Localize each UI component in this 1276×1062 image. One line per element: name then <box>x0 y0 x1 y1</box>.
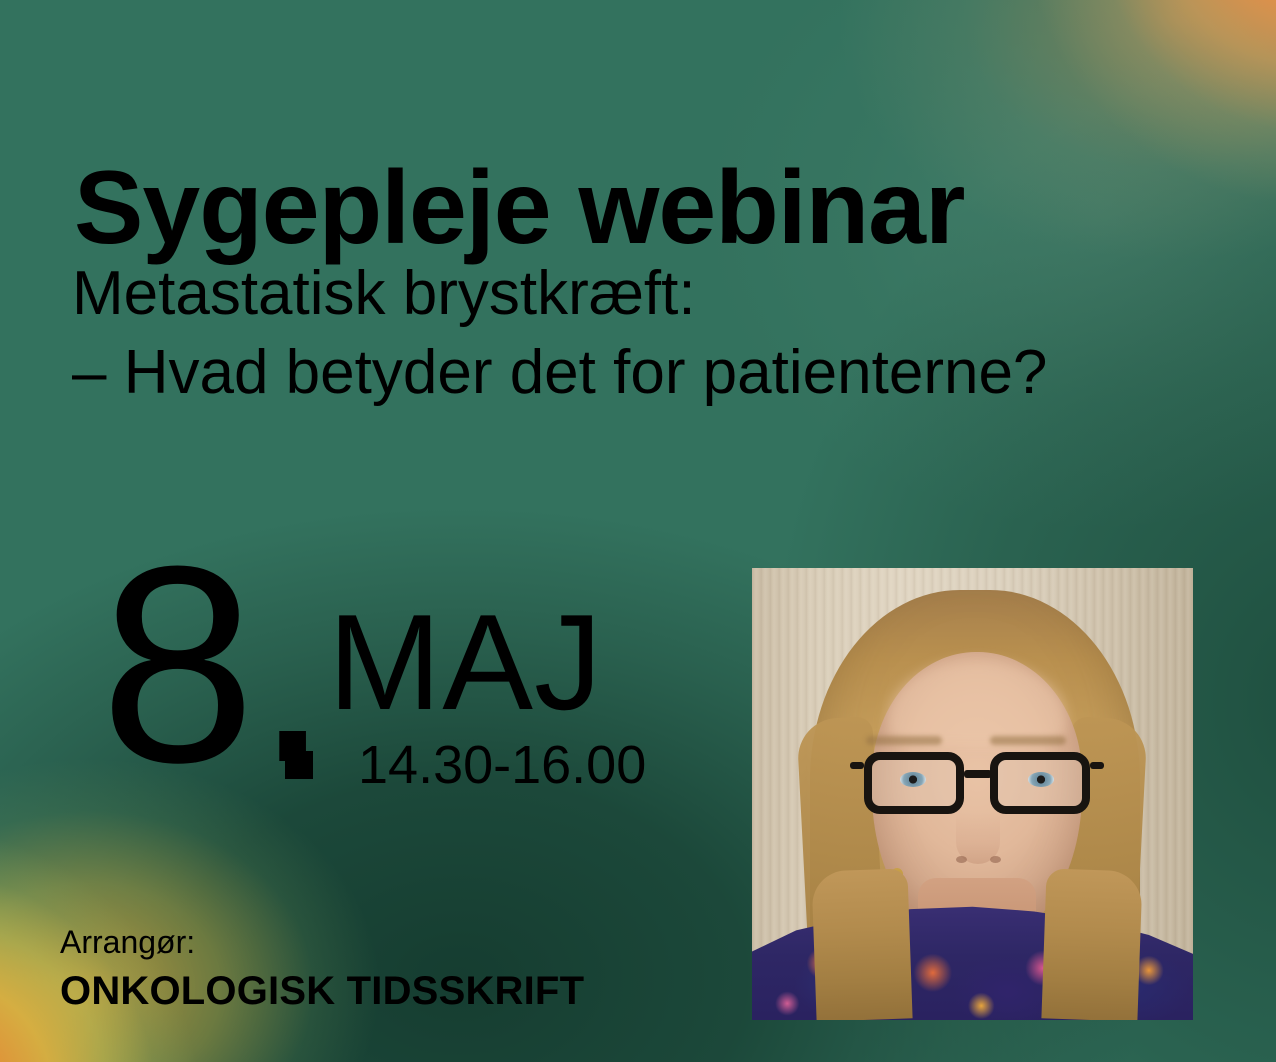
organiser-label: Arrangør: <box>60 924 584 961</box>
speaker-nostril-right <box>990 856 1001 863</box>
page-title: Sygepleje webinar <box>74 156 964 260</box>
glasses-bridge <box>964 770 992 778</box>
glasses-temple-left <box>850 762 864 769</box>
page-subtitle: Metastatisk brystkræft: – Hvad betyder d… <box>72 254 1047 413</box>
organiser-block: Arrangør: ONKOLOGISK TIDSSKRIFT <box>60 924 584 1013</box>
poster-content: Sygepleje webinar Metastatisk brystkræft… <box>0 0 1276 1062</box>
speaker-photo <box>752 568 1193 1020</box>
speaker-nostril-left <box>956 856 967 863</box>
subtitle-line-2: – Hvad betyder det for patienterne? <box>72 333 1047 412</box>
speaker-eye-left <box>900 772 926 787</box>
square-bullet-icon <box>285 751 313 779</box>
event-month: MAJ <box>328 594 603 730</box>
speaker-eye-right <box>1028 772 1054 787</box>
glasses-temple-right <box>1090 762 1104 769</box>
speaker-hair-front-right <box>1041 868 1142 1020</box>
speaker-eyebrow-right <box>990 736 1066 745</box>
webinar-poster: Sygepleje webinar Metastatisk brystkræft… <box>0 0 1276 1062</box>
subtitle-line-1: Metastatisk brystkræft: <box>72 254 1047 333</box>
event-time: 14.30-16.00 <box>358 738 646 792</box>
photo-background-wood <box>752 568 1193 1020</box>
event-date-block: 8. MAJ 14.30-16.00 <box>100 556 720 816</box>
speaker-hair-front-left <box>811 868 912 1020</box>
speaker-eyebrow-left <box>866 736 942 745</box>
organiser-name: ONKOLOGISK TIDSSKRIFT <box>60 969 584 1013</box>
event-time-row: 14.30-16.00 <box>285 738 646 792</box>
speaker-glasses <box>860 748 1096 820</box>
